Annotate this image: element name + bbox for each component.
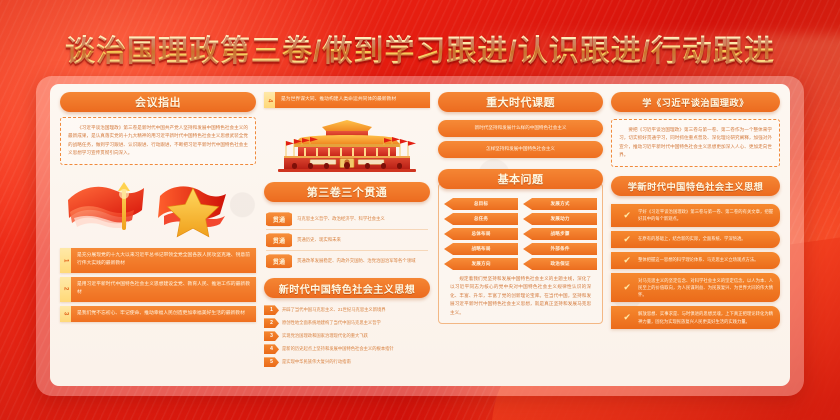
list-item: 外部条件	[523, 243, 597, 255]
item-text: 战略布局	[471, 246, 490, 252]
era-topic-list: 新时代坚持和发展什么样的中国特色社会主义 怎样坚持和发展中国特色社会主义	[438, 117, 603, 162]
item-text: 战略步骤	[551, 231, 570, 237]
list-item: ✔ 解放思想、实事求是、与时俱进的思想灵魂，上下真正把理论转化为精神力量，固化为…	[611, 306, 780, 329]
check-icon: ✔	[621, 235, 633, 244]
list-item: 发展方式	[523, 198, 597, 210]
item-text: 总目标	[474, 201, 488, 207]
item-text: 是为世界谋大同、推动构建人类命运共同体的最新教材	[275, 92, 430, 108]
item-text: 在原有的基础上，结合新的实际，全面系统、学深悟透。	[638, 235, 773, 242]
meeting-intro-box: 《习近平谈治国理政》第三卷是新时代中国共产党人坚持和发展中国特色社会主义的最新成…	[60, 117, 256, 165]
item-text: 发展动力	[551, 216, 570, 222]
heading-three-guantong: 第三卷三个贯通	[264, 182, 430, 202]
item-text: 对马克思主义的坚定信念、对科学社会主义的坚定信念，以人为本、人民至上的价值取向，…	[638, 277, 773, 299]
tiananmen-graphic	[264, 115, 430, 173]
item-number: 3	[60, 306, 71, 322]
list-item: 5 是实现中华民族伟大复兴的行动指南	[264, 357, 430, 367]
meeting-intro-text: 《习近平谈治国理政》第三卷是新时代中国共产党人坚持和发展中国特色社会主义的最新成…	[68, 124, 248, 158]
study-check-list: ✔ 学好《习近平谈治国理政》第三卷与第一卷、第二卷的有关文章，把握好其中的每个新…	[611, 204, 780, 333]
guantong-text: 贯通改革发展稳定、内政外交国防、治党治国治军等各个领域	[297, 258, 416, 264]
heading-study-book-label: 学《习近平谈治国理政》	[642, 95, 749, 109]
item-text: 是实现中华民族伟大复兴的行动指南	[282, 359, 351, 365]
item-text: 是充分展现党的十九大以来习近平总书记带领全党全国各族人民攻坚克难、锐意前行伟大实…	[71, 248, 256, 273]
list-item: 4 是新的历史起点上坚持和发展中国特色社会主义的根本指针	[264, 344, 430, 354]
heading-meeting-points-label: 会议指出	[135, 94, 181, 110]
item-number: 5	[264, 357, 279, 367]
content-board: 会议指出 《习近平谈治国理政》第三卷是新时代中国共产党人坚持和发展中国特色社会主…	[50, 84, 790, 386]
column-meeting-points: 会议指出 《习近平谈治国理政》第三卷是新时代中国共产党人坚持和发展中国特色社会主…	[60, 92, 256, 380]
basic-questions-footer: 规定着我们党坚持和发展中国特色社会主义的主题主线，深化了以习近平同志为核心的党中…	[444, 270, 597, 319]
heading-study-thought: 学新时代中国特色社会主义思想	[611, 176, 780, 196]
item-text: 实现党治国理政和国家治理现代化的重大飞跃	[282, 333, 368, 339]
new-era-thought-list: 1 开辟了当代中国马克思主义、21世纪马克思主义新境界 2 原创性地全面系统地建…	[264, 303, 430, 367]
study-book-box: 要把《习近平谈治国理政》第三卷与第一卷、第二卷作为一个整体来学习，切实抓好贯通学…	[611, 119, 780, 167]
red-flag-and-star-emblem	[60, 172, 256, 240]
heading-three-guantong-label: 第三卷三个贯通	[307, 184, 388, 200]
guantong-list: 贯通 马克思主义哲学、政治经济学、科学社会主义 贯通 贯通历史、现实和未来 贯通…	[264, 207, 430, 271]
poster-header: 谈治国理政第三卷/做到学习跟进/认识跟进/行动跟进	[0, 26, 840, 70]
item-text: 是我们党不忘初心、牢记使命、推动幸福人民创造更加幸福美好生活的最新教材	[71, 306, 256, 322]
guantong-badge: 贯通	[266, 254, 292, 268]
item-number: 4	[264, 92, 275, 108]
guantong-badge: 贯通	[266, 212, 292, 226]
heading-meeting-points: 会议指出	[60, 92, 256, 112]
basic-questions-panel: 总目标 发展方式 总任务 发展动力 总体布局 战略步骤 战略布局 外部条件 发展…	[438, 183, 603, 324]
item-text: 新时代坚持和发展什么样的中国特色社会主义	[475, 125, 567, 131]
check-icon: ✔	[621, 313, 633, 322]
item-text: 是用习近平新时代中国特色社会主义思想建设全党、教育人民、推进工作的最新教材	[71, 277, 256, 302]
check-icon: ✔	[621, 283, 633, 292]
item-text: 怎样坚持和发展中国特色社会主义	[486, 146, 555, 152]
item-text: 政治保证	[551, 261, 570, 267]
item-text: 外部条件	[551, 246, 570, 252]
item-number: 2	[60, 277, 71, 302]
list-item: 2 是用习近平新时代中国特色社会主义思想建设全党、教育人民、推进工作的最新教材	[60, 277, 256, 302]
list-item: ✔ 在原有的基础上，结合新的实际，全面系统、学深悟透。	[611, 231, 780, 248]
item-text: 是新的历史起点上坚持和发展中国特色社会主义的根本指针	[282, 346, 394, 352]
list-item: 怎样坚持和发展中国特色社会主义	[438, 141, 603, 158]
column-era-topic: 重大时代课题 新时代坚持和发展什么样的中国特色社会主义 怎样坚持和发展中国特色社…	[438, 92, 603, 380]
list-item: 总目标	[444, 198, 518, 210]
list-item: 政治保证	[523, 258, 597, 270]
item-text: 整体把握这一思想的科学理论体系、马克思主义立场观点方法。	[638, 256, 773, 263]
guantong-text: 贯通历史、现实和未来	[297, 237, 341, 243]
column-study: 学《习近平谈治国理政》 要把《习近平谈治国理政》第三卷与第一卷、第二卷作为一个整…	[611, 92, 780, 380]
emblem-graphic	[60, 172, 256, 240]
item-number: 3	[264, 331, 279, 341]
item-text: 解放思想、实事求是、与时俱进的思想灵魂，上下真正把理论转化为精神力量，固化为实现…	[638, 310, 773, 325]
list-item: 战略步骤	[523, 228, 597, 240]
list-item: 1 是充分展现党的十九大以来习近平总书记带领全党全国各族人民攻坚克难、锐意前行伟…	[60, 248, 256, 273]
list-item: 1 开辟了当代中国马克思主义、21世纪马克思主义新境界	[264, 305, 430, 315]
guantong-badge: 贯通	[266, 233, 292, 247]
list-item: 贯通 贯通改革发展稳定、内政外交国防、治党治国治军等各个领域	[266, 250, 428, 271]
list-item: 3 是我们党不忘初心、牢记使命、推动幸福人民创造更加幸福美好生活的最新教材	[60, 306, 256, 322]
item-text: 原创性地全面系统地建构了当代中国马克思主义哲学	[282, 320, 381, 326]
item-number: 2	[264, 318, 279, 328]
heading-basic-questions-label: 基本问题	[498, 171, 544, 187]
check-icon: ✔	[621, 211, 633, 220]
item-text: 开辟了当代中国马克思主义、21世纪马克思主义新境界	[282, 307, 386, 313]
list-item: 3 实现党治国理政和国家治理现代化的重大飞跃	[264, 331, 430, 341]
item-number: 4	[264, 344, 279, 354]
list-item: ✔ 学好《习近平谈治国理政》第三卷与第一卷、第二卷的有关文章，把握好其中的每个新…	[611, 204, 780, 227]
list-item: 总体布局	[444, 228, 518, 240]
heading-era-topic-label: 重大时代课题	[486, 94, 555, 110]
list-item: 总任务	[444, 213, 518, 225]
heading-era-topic: 重大时代课题	[438, 92, 603, 112]
item-number: 1	[264, 305, 279, 315]
basic-questions-footer-text: 规定着我们党坚持和发展中国特色社会主义的主题主线，深化了以习近平同志为核心的党中…	[450, 275, 591, 317]
list-item: ✔ 整体把握这一思想的科学理论体系、马克思主义立场观点方法。	[611, 252, 780, 269]
list-item: 4 是为世界谋大同、推动构建人类命运共同体的最新教材	[264, 92, 430, 108]
list-item: 贯通 贯通历史、现实和未来	[266, 229, 428, 250]
tiananmen-gate-illustration	[264, 115, 430, 173]
list-item: 发展动力	[523, 213, 597, 225]
guantong-text: 马克思主义哲学、政治经济学、科学社会主义	[297, 216, 385, 222]
item-text: 发展方向	[471, 261, 490, 267]
column-three-guantong: 4 是为世界谋大同、推动构建人类命运共同体的最新教材	[264, 92, 430, 380]
meeting-numbered-list: 1 是充分展现党的十九大以来习近平总书记带领全党全国各族人民攻坚克难、锐意前行伟…	[60, 248, 256, 326]
heading-basic-questions: 基本问题	[438, 169, 603, 189]
heading-study-book: 学《习近平谈治国理政》	[611, 92, 780, 112]
basic-questions-grid: 总目标 发展方式 总任务 发展动力 总体布局 战略步骤 战略布局 外部条件 发展…	[444, 198, 597, 270]
list-item: 战略布局	[444, 243, 518, 255]
study-book-text: 要把《习近平谈治国理政》第三卷与第一卷、第二卷作为一个整体来学习，切实抓好贯通学…	[619, 126, 772, 160]
page-title: 谈治国理政第三卷/做到学习跟进/认识跟进/行动跟进	[65, 26, 775, 70]
check-icon: ✔	[621, 256, 633, 265]
list-item: 贯通 马克思主义哲学、政治经济学、科学社会主义	[266, 209, 428, 229]
heading-study-thought-label: 学新时代中国特色社会主义思想	[628, 179, 764, 193]
list-item: 新时代坚持和发展什么样的中国特色社会主义	[438, 120, 603, 137]
heading-new-era-thought-label: 新时代中国特色社会主义思想	[279, 281, 416, 296]
item-text: 总任务	[474, 216, 488, 222]
heading-new-era-thought: 新时代中国特色社会主义思想	[264, 278, 430, 298]
item-text: 学好《习近平谈治国理政》第三卷与第一卷、第二卷的有关文章，把握好其中的每个新观点…	[638, 208, 773, 223]
item-number: 1	[60, 248, 71, 273]
list-item: 发展方向	[444, 258, 518, 270]
item-text: 总体布局	[471, 231, 490, 237]
list-item: ✔ 对马克思主义的坚定信念、对科学社会主义的坚定信念，以人为本、人民至上的价值取…	[611, 273, 780, 303]
list-item: 2 原创性地全面系统地建构了当代中国马克思主义哲学	[264, 318, 430, 328]
item-text: 发展方式	[551, 201, 570, 207]
